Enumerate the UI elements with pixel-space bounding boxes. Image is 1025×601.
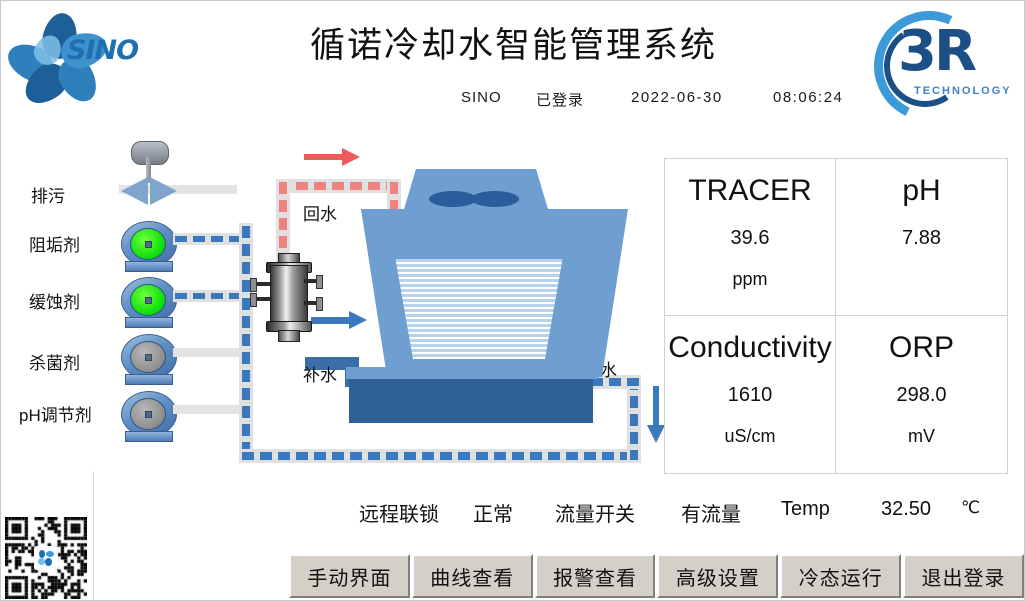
supply-arrow-shaft bbox=[653, 386, 659, 428]
pump-pip bbox=[145, 297, 152, 304]
page-title: 循诺冷却水智能管理系统 bbox=[1, 17, 1025, 68]
cooling-tower-fan-blade-left bbox=[429, 191, 477, 207]
sensor-vessel[interactable] bbox=[266, 253, 310, 337]
chem-label-ph-adjuster: pH调节剂 bbox=[19, 401, 92, 426]
pump-pip bbox=[145, 411, 152, 418]
valve-wing-right bbox=[150, 177, 177, 205]
measurement-unit: mV bbox=[908, 426, 935, 447]
pump-inhibitor[interactable] bbox=[121, 277, 175, 325]
vessel-flange-left-2 bbox=[250, 293, 257, 307]
chem-label-antiscalant: 阻垢剂 bbox=[29, 231, 80, 256]
vessel-flange-right-1 bbox=[316, 275, 323, 289]
qr-divider bbox=[93, 471, 94, 601]
pump-base bbox=[125, 317, 173, 328]
measurement-value: 298.0 bbox=[896, 384, 946, 407]
cooling-tower-ledge bbox=[346, 367, 598, 379]
pump-antiscalant[interactable] bbox=[121, 221, 175, 269]
pump-status-indicator bbox=[130, 228, 166, 260]
pump-pip bbox=[145, 241, 152, 248]
valve-wing-left bbox=[121, 177, 148, 205]
temp-label: Temp bbox=[781, 498, 830, 521]
measurement-unit: uS/cm bbox=[724, 426, 775, 447]
header-status-bar: SINO 已登录 2022-06-30 08:06:24 bbox=[441, 89, 921, 113]
hmi-screen: SINO 3R TECHNOLOGY 循诺冷却水智能管理系统 SINO 已登录 … bbox=[0, 0, 1025, 601]
pump-status-indicator bbox=[130, 284, 166, 316]
cooling-tower-fan-blade-right bbox=[471, 191, 519, 207]
flow-switch-value: 有流量 bbox=[681, 498, 741, 527]
return-pipe-top bbox=[278, 182, 399, 190]
cold-start-button[interactable]: 冷态运行 bbox=[780, 554, 901, 598]
3r-logo-subtext: TECHNOLOGY bbox=[914, 85, 1012, 97]
login-status: 已登录 bbox=[536, 89, 584, 110]
measurement-value: 7.88 bbox=[902, 227, 941, 250]
measurement-unit: ppm bbox=[732, 269, 767, 290]
advanced-settings-button[interactable]: 高级设置 bbox=[657, 554, 778, 598]
dose-line-1 bbox=[175, 236, 249, 242]
measurement-name: Conductivity bbox=[668, 332, 831, 364]
pump-status-indicator bbox=[130, 341, 166, 373]
qr-code[interactable] bbox=[5, 517, 87, 599]
measurement-name: pH bbox=[902, 175, 940, 207]
measurement-value: 1610 bbox=[728, 384, 773, 407]
pump-base bbox=[125, 261, 173, 272]
measurement-name: TRACER bbox=[688, 175, 811, 207]
measurement-panel: TRACER 39.6 ppm pH 7.88 Conductivity 161… bbox=[664, 158, 1008, 474]
chem-label-inhibitor: 缓蚀剂 bbox=[29, 288, 80, 313]
chem-label-biocide: 杀菌剂 bbox=[29, 349, 80, 374]
return-water-label: 回水 bbox=[303, 200, 337, 225]
makeup-water-label: 补水 bbox=[303, 361, 337, 386]
remote-interlock-label: 远程联锁 bbox=[359, 498, 439, 527]
pump-biocide[interactable] bbox=[121, 334, 175, 382]
measurement-cell-conductivity[interactable]: Conductivity 1610 uS/cm bbox=[665, 316, 836, 473]
status-row: 远程联锁 正常 流量开关 有流量 Temp 32.50 ℃ bbox=[351, 498, 1021, 528]
temp-unit: ℃ bbox=[961, 498, 980, 518]
supply-arrow-head bbox=[647, 425, 665, 443]
vessel-flange-right-2 bbox=[316, 297, 323, 311]
trend-view-button[interactable]: 曲线查看 bbox=[412, 554, 533, 598]
cooling-tower-basin bbox=[349, 379, 593, 423]
pump-base bbox=[125, 431, 173, 442]
current-date: 2022-06-30 bbox=[631, 89, 723, 106]
pump-base bbox=[125, 374, 173, 385]
current-time: 08:06:24 bbox=[773, 89, 843, 106]
pump-pip bbox=[145, 354, 152, 361]
pump-ph-adjuster[interactable] bbox=[121, 391, 175, 439]
supply-pipe-right bbox=[630, 378, 638, 460]
button-bar: 手动界面 曲线查看 报警查看 高级设置 冷态运行 退出登录 bbox=[289, 554, 1024, 598]
remote-interlock-value: 正常 bbox=[473, 498, 513, 527]
chem-label-blowdown: 排污 bbox=[31, 182, 65, 207]
vessel-neck-bottom bbox=[278, 330, 300, 342]
manual-interface-button[interactable]: 手动界面 bbox=[289, 554, 410, 598]
vessel-flange-left-1 bbox=[250, 278, 257, 292]
measurement-value: 39.6 bbox=[731, 227, 770, 250]
measurement-cell-orp[interactable]: ORP 298.0 mV bbox=[836, 316, 1007, 473]
qr-center-logo bbox=[34, 546, 58, 570]
logout-button[interactable]: 退出登录 bbox=[903, 554, 1024, 598]
measurement-cell-ph[interactable]: pH 7.88 bbox=[836, 159, 1007, 316]
current-user: SINO bbox=[461, 89, 502, 106]
supply-pipe-bottom bbox=[242, 452, 638, 460]
return-arrow-head bbox=[342, 148, 360, 166]
measurement-name: ORP bbox=[889, 332, 954, 364]
return-arrow-shaft bbox=[304, 154, 346, 160]
supply-pipe-left bbox=[242, 226, 250, 460]
temp-value: 32.50 bbox=[881, 498, 931, 521]
vessel-shell bbox=[270, 265, 308, 327]
makeup-arrow-shaft bbox=[311, 317, 353, 324]
dose-line-2 bbox=[175, 293, 249, 299]
alarm-view-button[interactable]: 报警查看 bbox=[535, 554, 656, 598]
blowdown-valve[interactable] bbox=[119, 141, 179, 203]
pump-status-indicator bbox=[130, 398, 166, 430]
measurement-cell-tracer[interactable]: TRACER 39.6 ppm bbox=[665, 159, 836, 316]
flow-switch-label: 流量开关 bbox=[555, 498, 635, 527]
